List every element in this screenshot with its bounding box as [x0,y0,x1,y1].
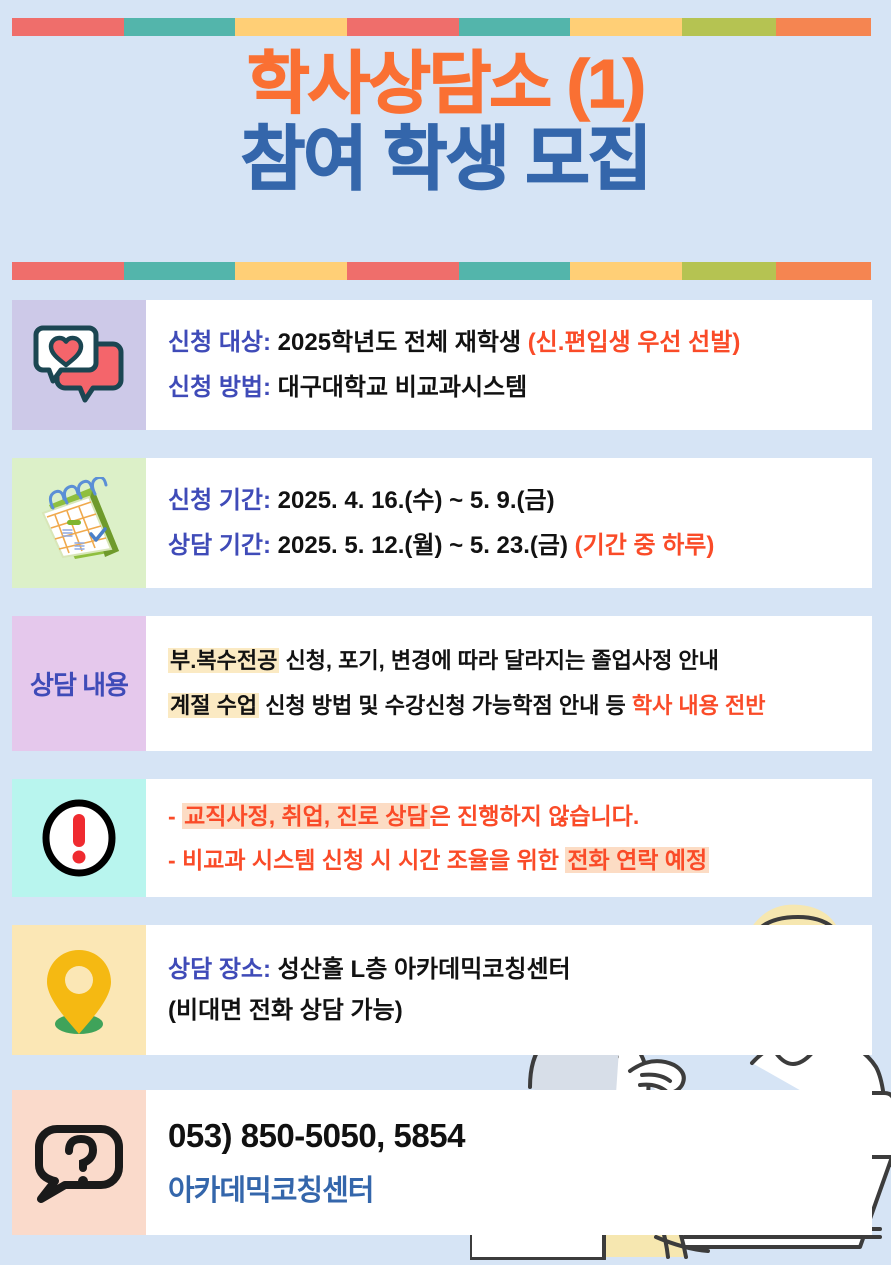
color-bar-segment-3 [235,262,347,280]
location-value: 성산홀 L층 아카데믹코칭센터 [271,956,571,983]
content-line-2-highlight: 계절 수업 [168,693,259,718]
location-pin-icon [12,925,146,1055]
contact-phone: 053) 850-5050, 5854 [168,1117,872,1155]
location-line-2: (비대면 전화 상담 가능) [168,996,872,1025]
location-line-1: 상담 장소: 성산홀 L층 아카데믹코칭센터 [168,955,872,984]
info-row-application-body: 신청 대상: 2025학년도 전체 재학생 (신.편입생 우선 선발) 신청 방… [146,300,872,430]
color-bar-segment-1 [12,262,124,280]
application-target-line: 신청 대상: 2025학년도 전체 재학생 (신.편입생 우선 선발) [168,328,872,357]
application-target-label: 신청 대상: [168,329,271,356]
contact-center-name: 아카데믹코칭센터 [168,1167,872,1209]
info-row-notice: - 교직사정, 취업, 진로 상담은 진행하지 않습니다. - 비교과 시스템 … [12,779,872,897]
info-row-location-body: 상담 장소: 성산홀 L층 아카데믹코칭센터 (비대면 전화 상담 가능) [146,925,872,1055]
content-line-1: 부.복수전공 신청, 포기, 변경에 따라 달라지는 졸업사정 안내 [168,648,872,675]
color-bar-top [12,18,871,36]
title-line-1: 학사상담소 (1) [0,48,891,120]
color-bar-segment-7 [682,262,776,280]
notice-line-1-value: 은 진행하지 않습니다. [430,803,640,829]
info-row-period-body: 신청 기간: 2025. 4. 16.(수) ~ 5. 9.(금) 상담 기간:… [146,458,872,588]
consultation-content-label-box: 상담 내용 [12,616,146,751]
notice-line-2: - 비교과 시스템 신청 시 시간 조율을 위한 전화 연락 예정 [168,846,872,874]
content-line-2: 계절 수업 신청 방법 및 수강신청 가능학점 안내 등 학사 내용 전반 [168,693,872,720]
color-bar-segment-7 [682,18,776,36]
color-bar-segment-4 [347,262,459,280]
apply-period-value: 2025. 4. 16.(수) ~ 5. 9.(금) [271,487,555,514]
color-bar-segment-8 [776,262,870,280]
application-target-accent: (신.편입생 우선 선발) [528,329,741,356]
color-bar-segment-5 [459,262,571,280]
application-method-value: 대구대학교 비교과시스템 [271,374,527,401]
consult-period-value: 2025. 5. 12.(월) ~ 5. 23.(금) [271,532,575,559]
color-bar-segment-4 [347,18,459,36]
apply-period-line: 신청 기간: 2025. 4. 16.(수) ~ 5. 9.(금) [168,486,872,515]
color-bar-segment-6 [570,262,682,280]
color-bar-segment-6 [570,18,682,36]
apply-period-label: 신청 기간: [168,487,271,514]
chat-bubbles-heart-icon [12,300,146,430]
location-note: (비대면 전화 상담 가능) [168,997,403,1024]
info-row-contact-body: 053) 850-5050, 5854 아카데믹코칭센터 [146,1090,872,1235]
color-bar-segment-2 [124,18,236,36]
notice-line-2-value: 비교과 시스템 신청 시 시간 조율을 위한 [182,847,565,873]
exclamation-circle-icon [12,779,146,897]
content-line-2-value: 신청 방법 및 수강신청 가능학점 안내 등 [259,693,632,718]
title-line-2: 참여 학생 모집 [0,122,891,196]
poster-title: 학사상담소 (1) 참여 학생 모집 [0,48,891,196]
content-line-1-value: 신청, 포기, 변경에 따라 달라지는 졸업사정 안내 [279,648,719,673]
info-row-notice-body: - 교직사정, 취업, 진로 상담은 진행하지 않습니다. - 비교과 시스템 … [146,779,872,897]
desk-calendar-icon [12,458,146,588]
notice-line-1-dash: - [168,803,182,829]
color-bar-segment-5 [459,18,571,36]
info-row-location: 상담 장소: 성산홀 L층 아카데믹코칭센터 (비대면 전화 상담 가능) [12,925,872,1055]
info-row-period: 신청 기간: 2025. 4. 16.(수) ~ 5. 9.(금) 상담 기간:… [12,458,872,588]
color-bar-segment-1 [12,18,124,36]
content-line-2-accent: 학사 내용 전반 [632,693,766,718]
notice-line-1-highlight: 교직사정, 취업, 진로 상담 [182,803,430,829]
consult-period-line: 상담 기간: 2025. 5. 12.(월) ~ 5. 23.(금) (기간 중… [168,531,872,560]
info-row-application: 신청 대상: 2025학년도 전체 재학생 (신.편입생 우선 선발) 신청 방… [12,300,872,430]
application-method-label: 신청 방법: [168,374,271,401]
color-bar-segment-8 [776,18,870,36]
color-bar-segment-3 [235,18,347,36]
application-method-line: 신청 방법: 대구대학교 비교과시스템 [168,373,872,402]
content-line-1-highlight: 부.복수전공 [168,648,279,673]
notice-line-1: - 교직사정, 취업, 진로 상담은 진행하지 않습니다. [168,802,872,830]
consultation-content-label: 상담 내용 [30,665,128,702]
color-bar-segment-2 [124,262,236,280]
consult-period-label: 상담 기간: [168,532,271,559]
question-speech-bubble-icon [12,1090,146,1235]
notice-line-2-dash: - [168,847,182,873]
notice-line-2-highlight: 전화 연락 예정 [565,847,709,873]
info-row-contact: 053) 850-5050, 5854 아카데믹코칭센터 [12,1090,872,1235]
consult-period-accent: (기간 중 하루) [575,532,715,559]
location-label: 상담 장소: [168,956,271,983]
info-row-content: 상담 내용 부.복수전공 신청, 포기, 변경에 따라 달라지는 졸업사정 안내… [12,616,872,751]
application-target-value: 2025학년도 전체 재학생 [271,329,528,356]
info-row-content-body: 부.복수전공 신청, 포기, 변경에 따라 달라지는 졸업사정 안내 계절 수업… [146,616,872,751]
color-bar-bottom [12,262,871,280]
